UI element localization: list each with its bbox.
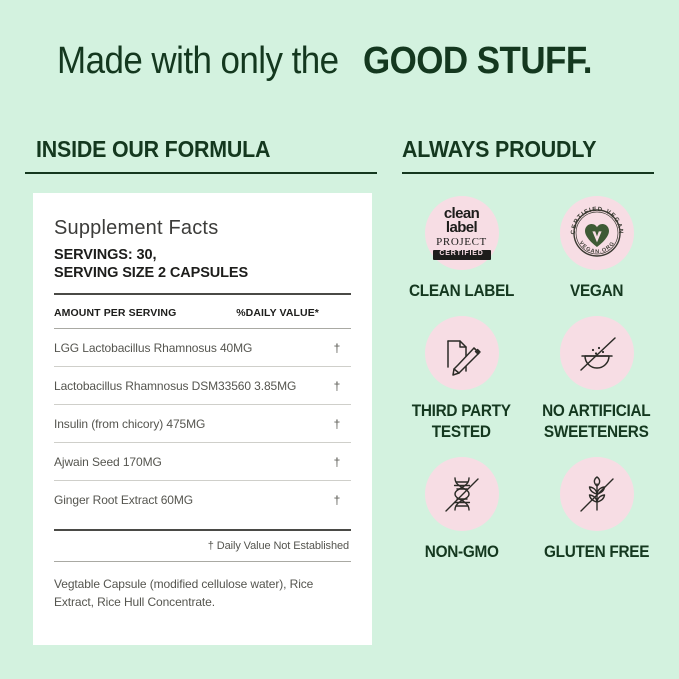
no-sugar-bowl-icon [560,316,634,390]
serving-size: SERVING SIZE 2 CAPSULES [54,264,351,282]
seal-line-3: PROJECT [433,237,491,248]
servings-info: SERVINGS: 30, SERVING SIZE 2 CAPSULES [54,246,351,282]
section-header-proudly: ALWAYS PROUDLY [402,136,611,163]
table-row: Ginger Root Extract 60MG † [54,481,351,518]
badge-vegan: CERTIFIED VEGAN VEGAN.ORG VEGAN [533,196,660,302]
ingredient-daily-value: † [323,341,351,355]
supplement-facts-title: Supplement Facts [54,217,351,240]
ingredient-name: Ginger Root Extract 60MG [54,493,193,507]
ingredient-daily-value: † [323,379,351,393]
badge-label: NO ARTIFICIAL SWEETENERS [538,401,654,443]
certified-vegan-seal: CERTIFIED VEGAN VEGAN.ORG [560,196,634,270]
badge-label: GLUTEN FREE [540,542,653,563]
badge-gluten-free: GLUTEN FREE [533,457,660,563]
page-title: Made with only the GOOD STUFF. [57,42,612,80]
badge-label-text: CLEAN LABEL [409,281,514,302]
daily-value-footnote: † Daily Value Not Established [54,531,351,561]
badge-non-gmo: NON-GMO [398,457,525,563]
ingredient-daily-value: † [323,455,351,469]
servings-count: SERVINGS: 30, [54,246,351,264]
no-dna-helix-svg [434,466,490,522]
table-row: Ajwain Seed 170MG † [54,443,351,480]
seal-line-4: CERTIFIED [433,250,491,260]
ingredient-name: Ajwain Seed 170MG [54,455,162,469]
no-sugar-bowl-svg [569,325,625,381]
badge-label-text: NON-GMO [425,542,499,563]
certification-badge-grid: clean label PROJECT CERTIFIED CLEAN LABE… [398,196,660,563]
badge-label-text: GLUTEN FREE [544,542,649,563]
no-dna-helix-icon [425,457,499,531]
ingredient-daily-value: † [323,493,351,507]
badge-label: VEGAN [568,281,625,302]
ingredient-daily-value: † [323,417,351,431]
pencil-document-svg [434,325,490,381]
badge-label: CLEAN LABEL [405,281,518,302]
clean-label-project-certified-seal: clean label PROJECT CERTIFIED [425,196,499,270]
no-wheat-icon [560,457,634,531]
badge-third-party-tested: THIRD PARTY TESTED [398,316,525,443]
seal-line-2: label [433,221,491,236]
table-row: LGG Lactobacillus Rhamnosus 40MG † [54,329,351,366]
badge-no-artificial-sweeteners: NO ARTIFICIAL SWEETENERS [533,316,660,443]
badge-label-text: NO ARTIFICIAL SWEETENERS [542,401,650,443]
table-column-headers: AMOUNT PER SERVING %DAILY VALUE* [54,295,351,328]
divider-proudly [402,172,654,174]
page-title-light: Made with only the [57,42,339,80]
badge-label: THIRD PARTY TESTED [408,401,514,443]
badge-label-text: VEGAN [570,281,623,302]
section-header-formula: INSIDE OUR FORMULA [36,136,288,163]
ingredient-name: LGG Lactobacillus Rhamnosus 40MG [54,341,252,355]
supplement-facts-card: Supplement Facts SERVINGS: 30, SERVING S… [33,193,372,645]
product-claims-panel: Made with only the GOOD STUFF. INSIDE OU… [0,0,679,679]
section-header-formula-text: INSIDE OUR FORMULA [36,136,270,163]
badge-label-text: THIRD PARTY TESTED [412,401,511,443]
ingredient-name: Lactobacillus Rhamnosus DSM33560 3.85MG [54,379,296,393]
column-header-daily-value: %DAILY VALUE* [236,307,319,319]
badge-clean-label: clean label PROJECT CERTIFIED CLEAN LABE… [398,196,525,302]
column-header-amount: AMOUNT PER SERVING [54,307,176,319]
page-title-bold: GOOD STUFF. [363,42,592,80]
section-header-proudly-text: ALWAYS PROUDLY [402,136,596,163]
pencil-document-icon [425,316,499,390]
divider-formula [25,172,377,174]
table-row: Lactobacillus Rhamnosus DSM33560 3.85MG … [54,367,351,404]
badge-label: NON-GMO [422,542,501,563]
no-wheat-svg [569,466,625,522]
vegan-seal-svg: CERTIFIED VEGAN VEGAN.ORG [567,203,627,263]
other-ingredients: Vegtable Capsule (modified cellulose wat… [54,562,351,611]
ingredient-name: Insulin (from chicory) 475MG [54,417,205,431]
table-row: Insulin (from chicory) 475MG † [54,405,351,442]
